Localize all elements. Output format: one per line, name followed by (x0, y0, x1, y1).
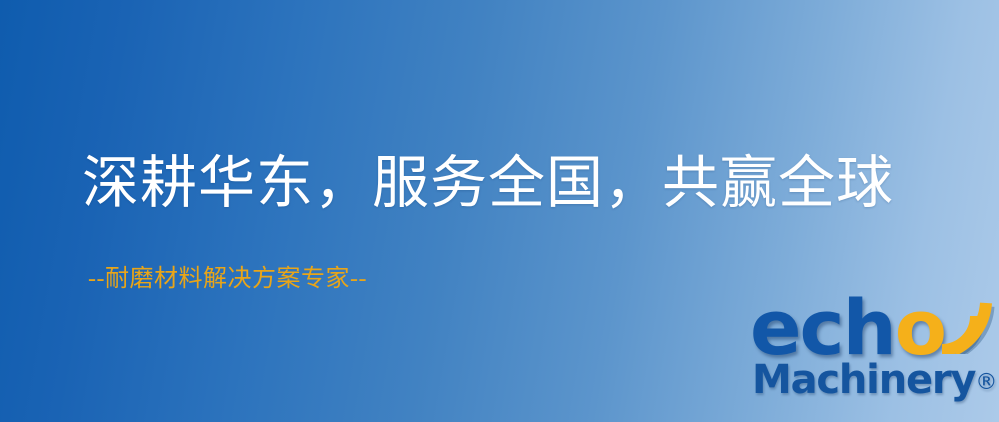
hero-banner: 深耕华东，服务全国，共赢全球 --耐磨材料解决方案专家-- echo Machi… (0, 0, 999, 422)
company-logo: echo Machinery® (748, 294, 999, 422)
registered-trademark-icon: ® (975, 370, 997, 395)
signal-arcs-icon (926, 292, 999, 354)
logo-echo-text: echo (750, 290, 945, 366)
banner-subtitle: --耐磨材料解决方案专家-- (88, 266, 367, 292)
banner-headline: 深耕华东，服务全国，共赢全球 (82, 154, 894, 214)
logo-tagline: Machinery® (752, 360, 997, 400)
logo-tagline-text: Machinery (752, 357, 975, 403)
